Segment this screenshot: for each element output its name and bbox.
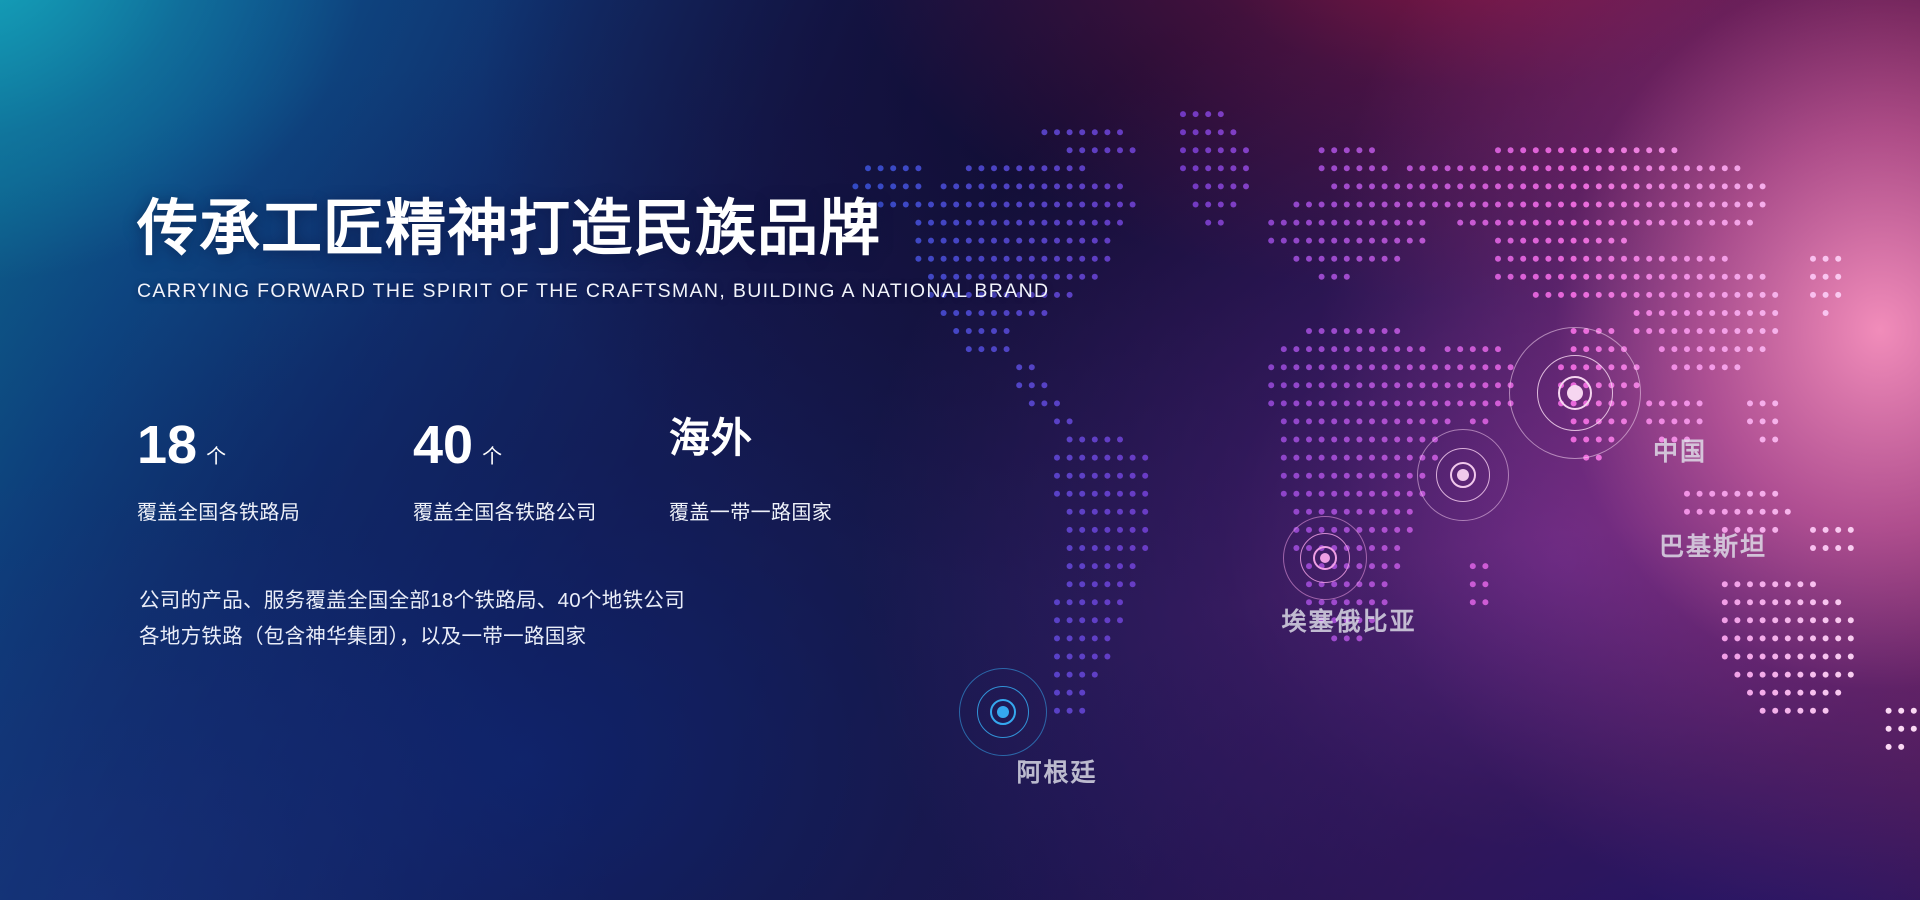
marker-center-dot <box>1457 469 1469 481</box>
stat-unit: 个 <box>206 447 226 467</box>
marker-center-dot <box>997 706 1009 718</box>
page-title: 传承工匠精神打造民族品牌 <box>137 196 1037 260</box>
stat-item-0: 18个覆盖全国各铁路局 <box>137 418 413 525</box>
description-block: 公司的产品、服务覆盖全国全部18个铁路局、40个地铁公司 各地方铁路（包含神华集… <box>139 583 685 655</box>
map-marker-label-argentina: 阿根廷 <box>1016 753 1097 789</box>
stat-value-row: 40个 <box>413 418 669 480</box>
description-line-1: 公司的产品、服务覆盖全国全部18个铁路局、40个地铁公司 <box>139 583 685 619</box>
map-marker-label-china: 中国 <box>1653 432 1707 468</box>
stat-value: 40 <box>413 418 473 472</box>
stat-unit: 个 <box>482 447 502 467</box>
stat-value: 海外 <box>669 418 753 459</box>
page-subtitle: CARRYING FORWARD THE SPIRIT OF THE CRAFT… <box>137 280 1037 303</box>
description-line-2: 各地方铁路（包含神华集团），以及一带一路国家 <box>139 619 685 655</box>
stat-label: 覆盖一带一路国家 <box>669 496 909 525</box>
marker-center-dot <box>1320 553 1330 563</box>
stats-row: 18个覆盖全国各铁路局40个覆盖全国各铁路公司海外覆盖一带一路国家 <box>137 418 909 525</box>
headline-panel: 传承工匠精神打造民族品牌 CARRYING FORWARD THE SPIRIT… <box>137 196 1037 303</box>
stat-item-1: 40个覆盖全国各铁路公司 <box>413 418 669 525</box>
marker-center-dot <box>1567 385 1583 401</box>
map-marker-label-pakistan: 巴基斯坦 <box>1659 527 1767 563</box>
stat-value: 18 <box>137 418 197 472</box>
stat-value-row: 海外 <box>669 418 909 480</box>
stat-label: 覆盖全国各铁路公司 <box>413 496 669 525</box>
banner-stage: 中国巴基斯坦埃塞俄比亚阿根廷 传承工匠精神打造民族品牌 CARRYING FOR… <box>0 0 1920 900</box>
stat-value-row: 18个 <box>137 418 413 480</box>
map-marker-label-ethiopia: 埃塞俄比亚 <box>1281 602 1416 638</box>
stat-item-2: 海外覆盖一带一路国家 <box>669 418 909 525</box>
stat-label: 覆盖全国各铁路局 <box>137 496 413 525</box>
